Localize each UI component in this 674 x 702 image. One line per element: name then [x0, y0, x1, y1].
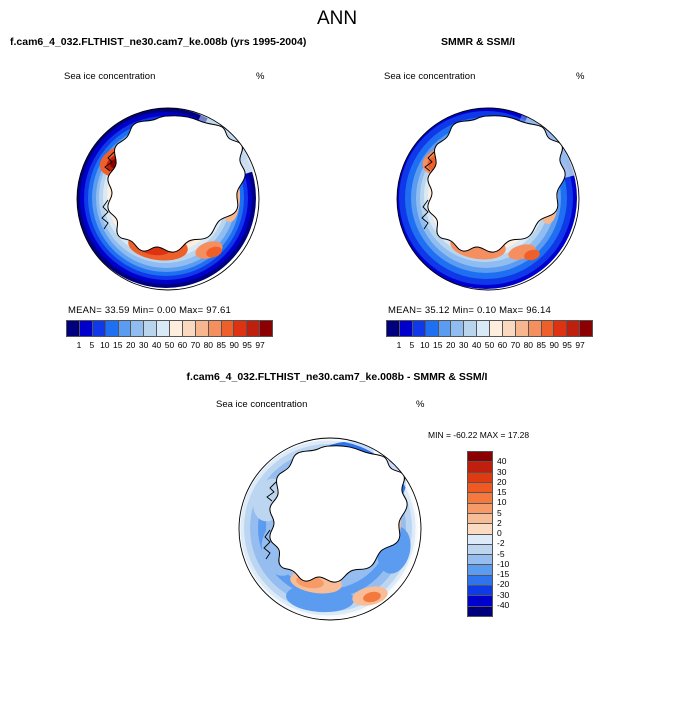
model-field-label: Sea ice concentration: [64, 71, 155, 82]
colorbar-tick-label: 1: [77, 340, 82, 350]
colorbar-cell-2: [413, 321, 426, 336]
colorbar-cell-1: [468, 462, 492, 472]
colorbar-tick-label: 30: [459, 340, 468, 350]
colorbar-tick-label: 97: [575, 340, 584, 350]
colorbar-cell-10: [196, 321, 209, 336]
colorbar-cell-3: [426, 321, 439, 336]
colorbar-cell-13: [554, 321, 567, 336]
model-panel-title: f.cam6_4_032.FLTHIST_ne30.cam7_ke.008b (…: [10, 36, 306, 48]
colorbar-tick-label: 15: [433, 340, 442, 350]
diff-colorbar-cells: [467, 451, 493, 617]
colorbar-cell-14: [468, 596, 492, 606]
diff-field-label: Sea ice concentration: [216, 399, 307, 410]
colorbar-cell-1: [80, 321, 93, 336]
colorbar-cell-14: [247, 321, 260, 336]
colorbar-cell-4: [119, 321, 132, 336]
colorbar-tick-label: -30: [497, 590, 509, 600]
model-units-label: %: [256, 71, 264, 82]
colorbar-tick-label: 20: [497, 477, 506, 487]
diff-anomaly-field: [224, 430, 436, 628]
model-colorbar-cells: [66, 320, 273, 337]
colorbar-cell-7: [157, 321, 170, 336]
colorbar-cell-15: [468, 607, 492, 616]
colorbar-tick-label: 10: [420, 340, 429, 350]
obs-polar-map: [382, 100, 594, 298]
colorbar-tick-label: 95: [562, 340, 571, 350]
colorbar-tick-label: -2: [497, 538, 505, 548]
colorbar-tick-label: 90: [549, 340, 558, 350]
colorbar-tick-label: 90: [229, 340, 238, 350]
obs-map-svg: [382, 100, 594, 298]
colorbar-cell-13: [234, 321, 247, 336]
colorbar-tick-label: 70: [191, 340, 200, 350]
colorbar-cell-8: [170, 321, 183, 336]
model-polar-map: [62, 100, 274, 298]
colorbar-cell-7: [477, 321, 490, 336]
model-concentration-field: [62, 100, 274, 298]
model-map-svg: [62, 100, 274, 298]
model-colorbar-labels: 1510152030405060708085909597: [66, 340, 273, 354]
colorbar-tick-label: 85: [537, 340, 546, 350]
colorbar-tick-label: 15: [497, 487, 506, 497]
colorbar-tick-label: 60: [498, 340, 507, 350]
colorbar-tick-label: 10: [100, 340, 109, 350]
colorbar-cell-7: [468, 524, 492, 534]
colorbar-tick-label: 40: [497, 456, 506, 466]
colorbar-tick-label: 97: [255, 340, 264, 350]
diff-colorbar-labels: 4030201510520-2-5-10-15-20-30-40: [497, 451, 523, 615]
colorbar-cell-3: [106, 321, 119, 336]
colorbar-tick-label: -40: [497, 600, 509, 610]
model-stats-line: MEAN= 33.59 Min= 0.00 Max= 97.61: [68, 305, 231, 316]
obs-panel-title: SMMR & SSM/I: [441, 36, 515, 48]
colorbar-tick-label: -5: [497, 549, 505, 559]
colorbar-tick-label: 5: [497, 508, 502, 518]
page-title: ANN: [0, 8, 674, 30]
colorbar-cell-6: [464, 321, 477, 336]
obs-field-label: Sea ice concentration: [384, 71, 475, 82]
diff-colorbar: 4030201510520-2-5-10-15-20-30-40: [467, 451, 523, 617]
colorbar-tick-label: 50: [165, 340, 174, 350]
colorbar-cell-6: [144, 321, 157, 336]
colorbar-tick-label: 2: [497, 518, 502, 528]
colorbar-cell-8: [468, 535, 492, 545]
colorbar-cell-15: [260, 321, 272, 336]
obs-colorbar-labels: 1510152030405060708085909597: [386, 340, 593, 354]
colorbar-cell-9: [468, 545, 492, 555]
colorbar-tick-label: 5: [90, 340, 95, 350]
colorbar-tick-label: 1: [397, 340, 402, 350]
colorbar-cell-2: [93, 321, 106, 336]
model-colorbar: 1510152030405060708085909597: [66, 320, 273, 354]
colorbar-tick-label: 30: [139, 340, 148, 350]
colorbar-tick-label: -10: [497, 559, 509, 569]
colorbar-tick-label: -20: [497, 579, 509, 589]
colorbar-cell-10: [516, 321, 529, 336]
colorbar-cell-2: [468, 473, 492, 483]
colorbar-tick-label: 5: [410, 340, 415, 350]
colorbar-tick-label: 95: [242, 340, 251, 350]
colorbar-cell-9: [183, 321, 196, 336]
colorbar-cell-12: [468, 576, 492, 586]
colorbar-cell-8: [490, 321, 503, 336]
diff-panel-title: f.cam6_4_032.FLTHIST_ne30.cam7_ke.008b -…: [0, 371, 674, 383]
obs-stats-line: MEAN= 35.12 Min= 0.10 Max= 96.14: [388, 305, 551, 316]
colorbar-tick-label: 20: [126, 340, 135, 350]
colorbar-tick-label: 15: [113, 340, 122, 350]
colorbar-cell-3: [468, 483, 492, 493]
colorbar-cell-12: [542, 321, 555, 336]
colorbar-cell-1: [400, 321, 413, 336]
colorbar-tick-label: 0: [497, 528, 502, 538]
colorbar-tick-label: 30: [497, 467, 506, 477]
colorbar-cell-10: [468, 555, 492, 565]
obs-colorbar: 1510152030405060708085909597: [386, 320, 593, 354]
diff-units-label: %: [416, 399, 424, 410]
colorbar-tick-label: 60: [178, 340, 187, 350]
colorbar-tick-label: 50: [485, 340, 494, 350]
colorbar-tick-label: 85: [217, 340, 226, 350]
diff-map-svg: [224, 430, 436, 628]
obs-concentration-field: [382, 100, 594, 298]
colorbar-cell-5: [131, 321, 144, 336]
colorbar-tick-label: 40: [472, 340, 481, 350]
colorbar-cell-14: [567, 321, 580, 336]
colorbar-cell-13: [468, 586, 492, 596]
colorbar-cell-4: [439, 321, 452, 336]
colorbar-tick-label: 20: [446, 340, 455, 350]
colorbar-tick-label: -15: [497, 569, 509, 579]
colorbar-cell-0: [387, 321, 400, 336]
colorbar-tick-label: 10: [497, 497, 506, 507]
obs-units-label: %: [576, 71, 584, 82]
colorbar-cell-0: [468, 452, 492, 462]
colorbar-tick-label: 40: [152, 340, 161, 350]
colorbar-tick-label: 80: [524, 340, 533, 350]
diff-polar-map: [224, 430, 436, 628]
colorbar-cell-5: [468, 504, 492, 514]
colorbar-cell-12: [222, 321, 235, 336]
colorbar-cell-11: [209, 321, 222, 336]
obs-colorbar-cells: [386, 320, 593, 337]
colorbar-cell-5: [451, 321, 464, 336]
colorbar-tick-label: 80: [204, 340, 213, 350]
colorbar-cell-11: [468, 565, 492, 575]
colorbar-cell-15: [580, 321, 592, 336]
colorbar-cell-6: [468, 514, 492, 524]
colorbar-tick-label: 70: [511, 340, 520, 350]
colorbar-cell-9: [503, 321, 516, 336]
colorbar-cell-0: [67, 321, 80, 336]
colorbar-cell-4: [468, 493, 492, 503]
colorbar-cell-11: [529, 321, 542, 336]
diff-minmax-label: MIN = -60.22 MAX = 17.28: [428, 430, 529, 440]
